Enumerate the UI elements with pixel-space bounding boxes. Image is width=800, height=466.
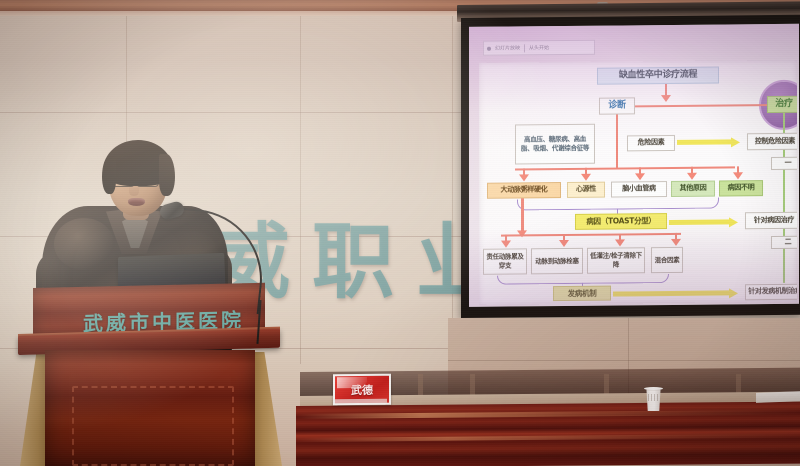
arrow-down-icon — [733, 172, 743, 179]
slide-node-etiology-3: 其他原因 — [671, 181, 715, 197]
slide-node-etiology-4: 病因不明 — [719, 180, 763, 196]
connector-etiology-bus — [515, 166, 735, 170]
arrow-down-icon — [661, 95, 671, 102]
arrow-bar-yellow — [613, 290, 731, 296]
slide-node-etiology-0: 大动脉粥样硬化 — [487, 182, 561, 199]
toolbar-right-label: 从头开始 — [529, 44, 549, 51]
arrow-down-icon — [635, 173, 645, 180]
placard-stand — [333, 399, 387, 404]
presentation-toolbar[interactable]: 幻灯片放映 从头开始 — [483, 40, 595, 56]
wall-seam-vertical — [300, 16, 301, 364]
slide-node-treat-mechanism: 针对发病机制治疗 — [745, 284, 797, 301]
toolbar-dot-icon — [487, 46, 491, 50]
slide-node-title: 缺血性卒中诊疗流程 — [597, 67, 719, 85]
toolbar-separator — [524, 44, 525, 52]
arrow-down-icon — [687, 173, 697, 180]
paper-cup-rim — [644, 387, 663, 390]
jacket-highlight — [54, 218, 114, 270]
arrow-bar-yellow — [677, 139, 733, 145]
wall-seam-vertical — [452, 16, 453, 364]
speaker-hair-side — [102, 156, 116, 194]
connector-diagnosis-down — [616, 114, 618, 169]
arrow-right-icon — [731, 137, 740, 147]
slide-node-mechanism-1: 动脉到动脉栓塞 — [531, 248, 583, 274]
conference-photo: 威职业 幻灯片放映 从头开始 缺血性卒中诊疗流程 — [0, 0, 800, 466]
connector-mechanism-bus — [501, 233, 681, 237]
arrow-down-icon — [615, 239, 625, 246]
slide-node-side-1: 一 — [771, 157, 797, 170]
arrow-down-icon — [581, 174, 591, 181]
slide-node-mechanism-0: 责任动脉累及穿支 — [483, 248, 527, 274]
arrow-right-icon — [729, 217, 738, 227]
slide-node-risk-box: 危险因素 — [627, 135, 675, 151]
arrow-down-icon — [559, 240, 569, 247]
podium-decorative-panel — [72, 386, 234, 466]
slide-node-mechanism-3: 混合因素 — [651, 247, 683, 273]
arrow-down-icon — [501, 241, 511, 248]
slide-node-etiology-2: 脑小血管病 — [611, 181, 667, 198]
slide-node-risk-factors: 高血压、糖尿病、高血脂、吸烟、代谢综合征等 — [515, 124, 595, 165]
arrow-down-icon — [519, 174, 529, 181]
connector-mechanism-down — [521, 198, 524, 234]
slide-node-control-risk: 控制危险因素 — [747, 133, 797, 151]
slide-flowchart: 缺血性卒中诊疗流程 诊断 治疗 高血压、糖尿病、高血脂、吸烟、代谢综合征等 危险… — [479, 60, 797, 305]
toolbar-left-label: 幻灯片放映 — [495, 44, 520, 51]
lower-wall-seam — [448, 360, 800, 361]
slide-node-treatment: 治疗 — [767, 96, 797, 113]
slide-node-treat-etiology: 针对病因治疗 — [745, 212, 797, 230]
slide-node-side-2: 二 — [771, 236, 797, 249]
paper-cup-print — [648, 394, 659, 401]
arrow-bar-yellow — [669, 219, 731, 225]
paper-documents — [756, 391, 800, 403]
slide-node-mechanism-summary: 发病机制 — [553, 286, 611, 302]
projection-screen: 幻灯片放映 从头开始 缺血性卒中诊疗流程 诊断 治疗 — [461, 15, 800, 318]
screen-surface: 幻灯片放映 从头开始 缺血性卒中诊疗流程 诊断 治疗 — [469, 24, 799, 307]
speaker-mouth — [128, 198, 145, 206]
slide-node-mechanism-2: 低灌注/栓子清除下降 — [587, 247, 645, 274]
arrow-down-icon — [671, 239, 681, 246]
arrow-right-icon — [729, 288, 738, 298]
slide-node-diagnosis: 诊断 — [599, 97, 635, 114]
speaker-hair-side — [159, 154, 175, 196]
slide-node-toast: 病因（TOAST分型） — [575, 213, 667, 230]
slide-node-etiology-1: 心源性 — [567, 182, 605, 198]
